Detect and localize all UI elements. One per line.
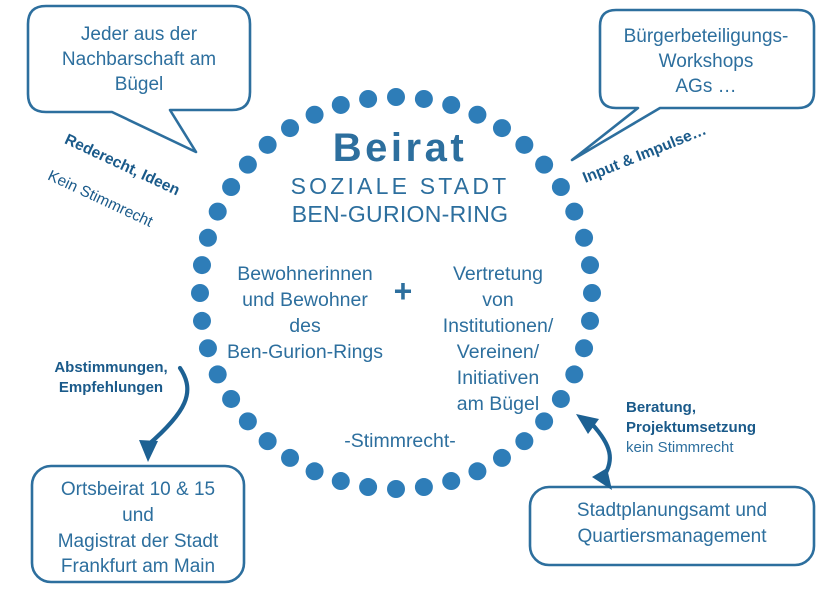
voting-rights-note: -Stimmrecht-: [300, 430, 500, 453]
ring-dot: [222, 390, 240, 408]
box-stadtplanungsamt-text: Stadtplanungsamt und Quartiersmanagement: [536, 498, 808, 550]
ring-dot: [575, 229, 593, 247]
bubble-top-right-text: Bürgerbeteiligungs- Workshops AGs …: [606, 24, 806, 99]
ring-dot: [415, 478, 433, 496]
ring-dot: [581, 312, 599, 330]
ring-dot: [387, 480, 405, 498]
ring-dot: [359, 90, 377, 108]
box-ortsbeirat-text: Ortsbeirat 10 & 15 und Magistrat der Sta…: [40, 477, 236, 580]
ring-dot: [415, 90, 433, 108]
ring-dot: [468, 462, 486, 480]
ring-dot: [387, 88, 405, 106]
ring-dot: [581, 256, 599, 274]
ring-dot: [583, 284, 601, 302]
ring-dot: [332, 472, 350, 490]
subtitle-soziale-stadt: SOZIALE STADT: [250, 175, 550, 198]
label-abstimmungen-empfehlungen: Abstimmungen, Empfehlungen: [36, 358, 186, 398]
ring-dot: [442, 96, 460, 114]
ring-dot: [209, 365, 227, 383]
ring-dot: [552, 178, 570, 196]
ring-dot: [191, 284, 209, 302]
members-residents-column: Bewohnerinnen und Bewohner des Ben-Gurio…: [216, 262, 394, 366]
ring-dot: [193, 312, 211, 330]
ring-dot: [239, 412, 257, 430]
label-kein-stimmrecht-2: kein Stimmrecht: [626, 438, 801, 458]
ring-dot: [306, 462, 324, 480]
ring-dot: [281, 449, 299, 467]
arrow-beratung-double: [576, 414, 612, 490]
members-institutions-column: Vertretung von Institutionen/ Vereinen/ …: [418, 262, 578, 418]
label-projektumsetzung: Projektumsetzung: [626, 418, 801, 438]
page-title: Beirat: [250, 128, 550, 168]
label-beratung-projektumsetzung: Beratung, Projektumsetzung kein Stimmrec…: [626, 398, 801, 458]
ring-dot: [565, 203, 583, 221]
ring-dot: [199, 339, 217, 357]
diagram-canvas: Jeder aus der Nachbarschaft am Bügel Red…: [0, 0, 820, 600]
ring-dot: [515, 432, 533, 450]
ring-dot: [359, 478, 377, 496]
subtitle-ben-gurion-ring: BEN-GURION-RING: [250, 203, 550, 226]
ring-dot: [332, 96, 350, 114]
ring-dot: [442, 472, 460, 490]
ring-dot: [259, 432, 277, 450]
bubble-top-left-text: Jeder aus der Nachbarschaft am Bügel: [36, 22, 242, 97]
label-beratung: Beratung,: [626, 398, 801, 418]
ring-dot: [306, 106, 324, 124]
plus-icon: +: [386, 275, 420, 307]
ring-dot: [468, 106, 486, 124]
